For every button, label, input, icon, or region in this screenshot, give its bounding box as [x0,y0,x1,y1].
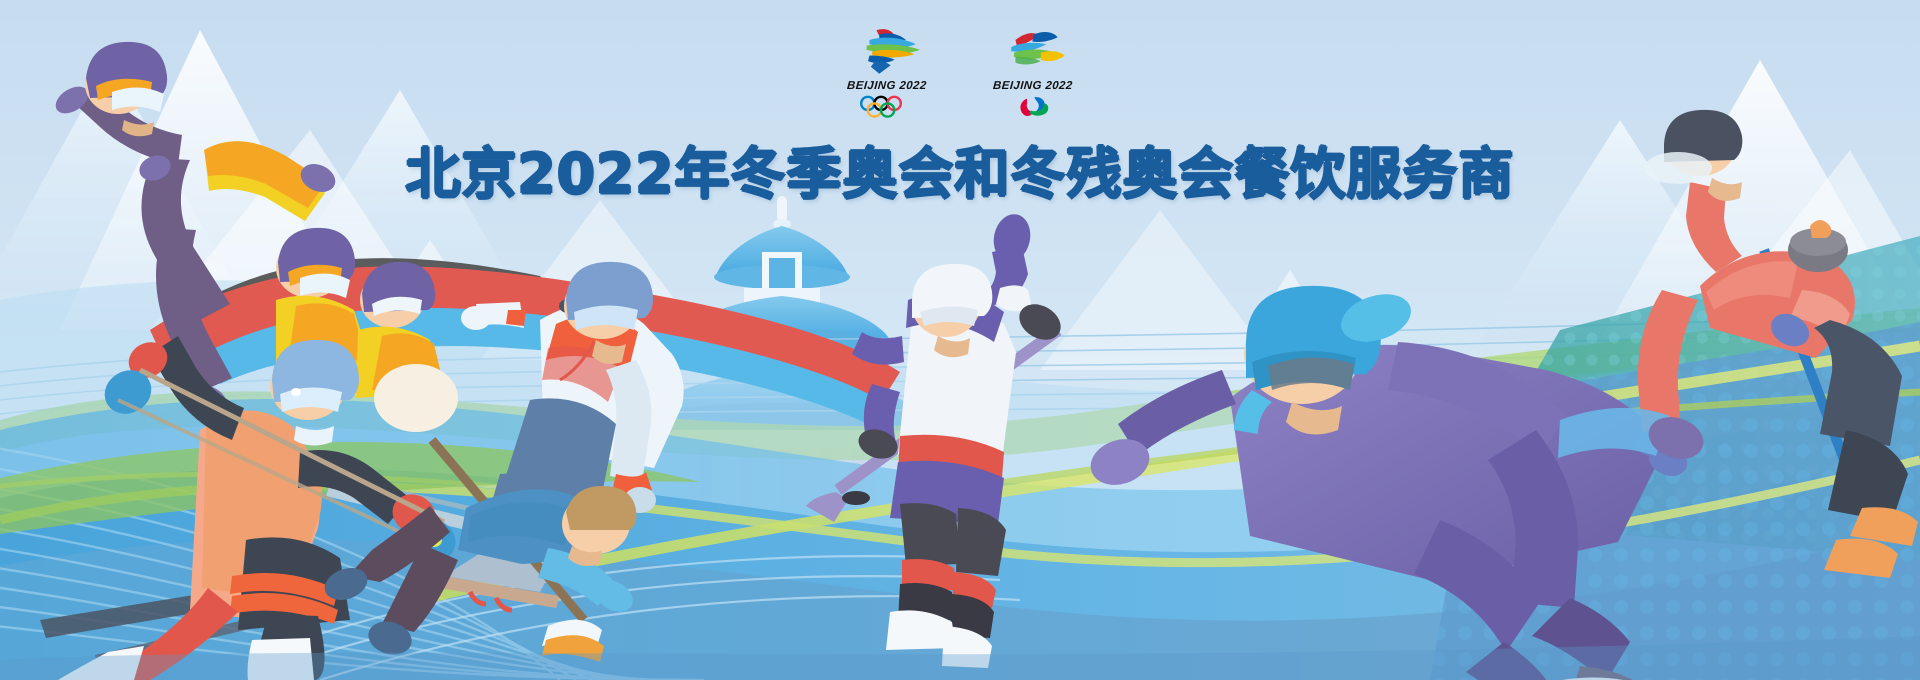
scene-illustration [0,0,1920,680]
banner-root: BEIJING 2022 [0,0,1920,680]
